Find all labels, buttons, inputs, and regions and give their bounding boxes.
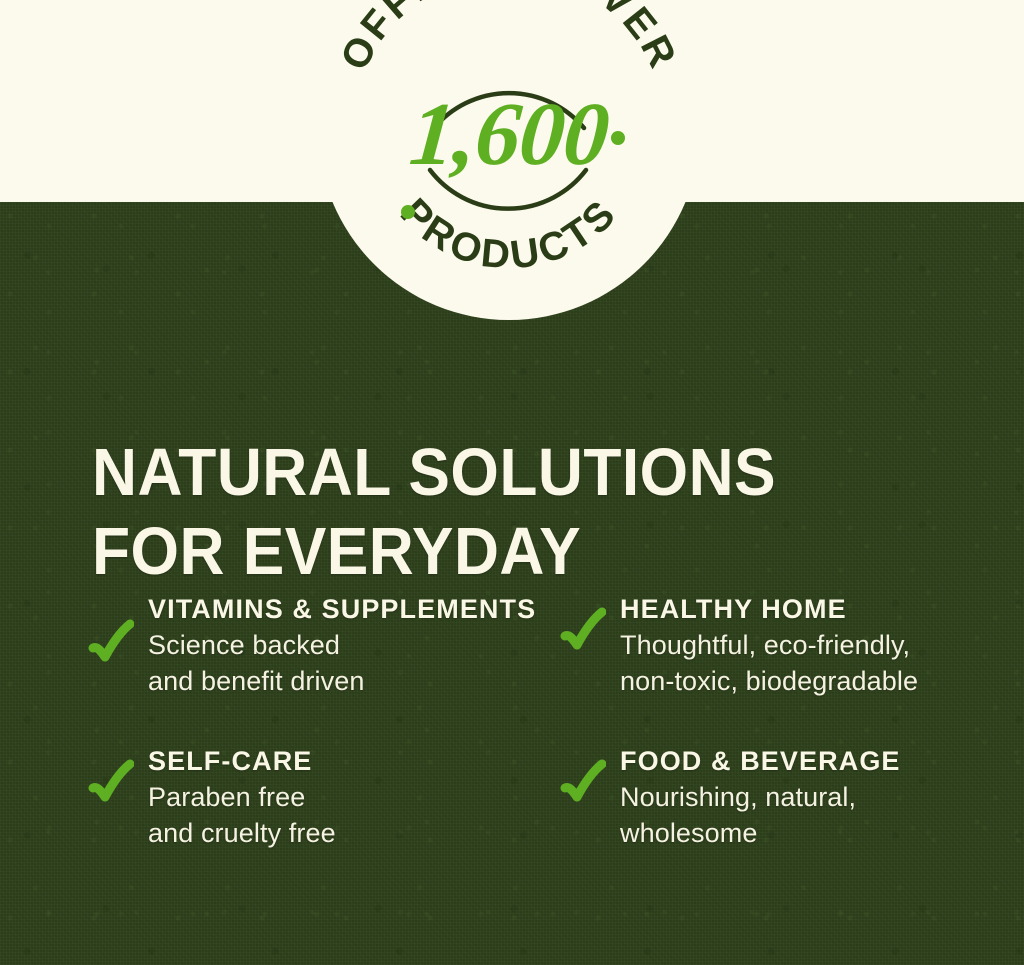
feature-title: SELF-CARE [148,744,336,779]
feature-grid: VITAMINS & SUPPLEMENTS Science backed an… [0,592,1024,852]
seal-arc-bottom-label: PRODUCTS [392,190,626,278]
seal-dot-left-icon [401,205,415,219]
feature-body: SELF-CARE Paraben free and cruelty free [148,744,336,852]
feature-desc-line-1: Paraben free [148,780,336,816]
promo-poster: OFFERING OVER PRODUCTS 1,600 NATURAL SOL… [0,0,1024,965]
checkmark-icon [560,758,606,810]
feature-description: Nourishing, natural, wholesome [620,780,901,852]
feature-desc-line-2: wholesome [620,816,901,852]
feature-item-food-beverage: FOOD & BEVERAGE Nourishing, natural, who… [560,744,1024,852]
feature-title-line-1: FOOD & BEVERAGE [620,746,901,776]
feature-title-line-1: VITAMINS & [148,594,313,624]
feature-desc-line-1: Nourishing, natural, [620,780,901,816]
feature-desc-line-2: and benefit driven [148,664,536,700]
feature-description: Science backed and benefit driven [148,628,536,700]
feature-item-vitamins-supplements: VITAMINS & SUPPLEMENTS Science backed an… [88,592,548,700]
feature-body: FOOD & BEVERAGE Nourishing, natural, who… [620,744,901,852]
headline-line-1: NATURAL SOLUTIONS [92,433,910,512]
feature-title-line-2: SUPPLEMENTS [322,594,537,624]
seal-arc-top-label: OFFERING OVER [332,0,685,77]
checkmark-icon [88,618,134,670]
feature-description: Thoughtful, eco-friendly, non-toxic, bio… [620,628,918,700]
feature-title-line-1: SELF-CARE [148,746,312,776]
feature-desc-line-1: Science backed [148,628,536,664]
feature-body: VITAMINS & SUPPLEMENTS Science backed an… [148,592,536,700]
feature-title: HEALTHY HOME [620,592,918,627]
feature-body: HEALTHY HOME Thoughtful, eco-friendly, n… [620,592,918,700]
headline-line-2: FOR EVERYDAY [92,512,910,591]
checkmark-icon [560,606,606,658]
feature-item-healthy-home: HEALTHY HOME Thoughtful, eco-friendly, n… [560,592,1024,700]
feature-item-self-care: SELF-CARE Paraben free and cruelty free [88,744,548,852]
feature-title: VITAMINS & SUPPLEMENTS [148,592,536,627]
checkmark-icon [88,758,134,810]
feature-description: Paraben free and cruelty free [148,780,336,852]
seal-product-count: 1,600 [314,90,704,180]
feature-desc-line-2: non-toxic, biodegradable [620,664,918,700]
feature-desc-line-2: and cruelty free [148,816,336,852]
feature-desc-line-1: Thoughtful, eco-friendly, [620,628,918,664]
seal-arc-top-textpath: OFFERING OVER [332,0,685,77]
feature-title: FOOD & BEVERAGE [620,744,901,779]
seal-arc-bottom-textpath: PRODUCTS [392,190,626,278]
feature-title-line-1: HEALTHY HOME [620,594,847,624]
page-title: NATURAL SOLUTIONS FOR EVERYDAY [92,433,910,591]
offering-over-products-seal: OFFERING OVER PRODUCTS 1,600 [318,0,700,320]
